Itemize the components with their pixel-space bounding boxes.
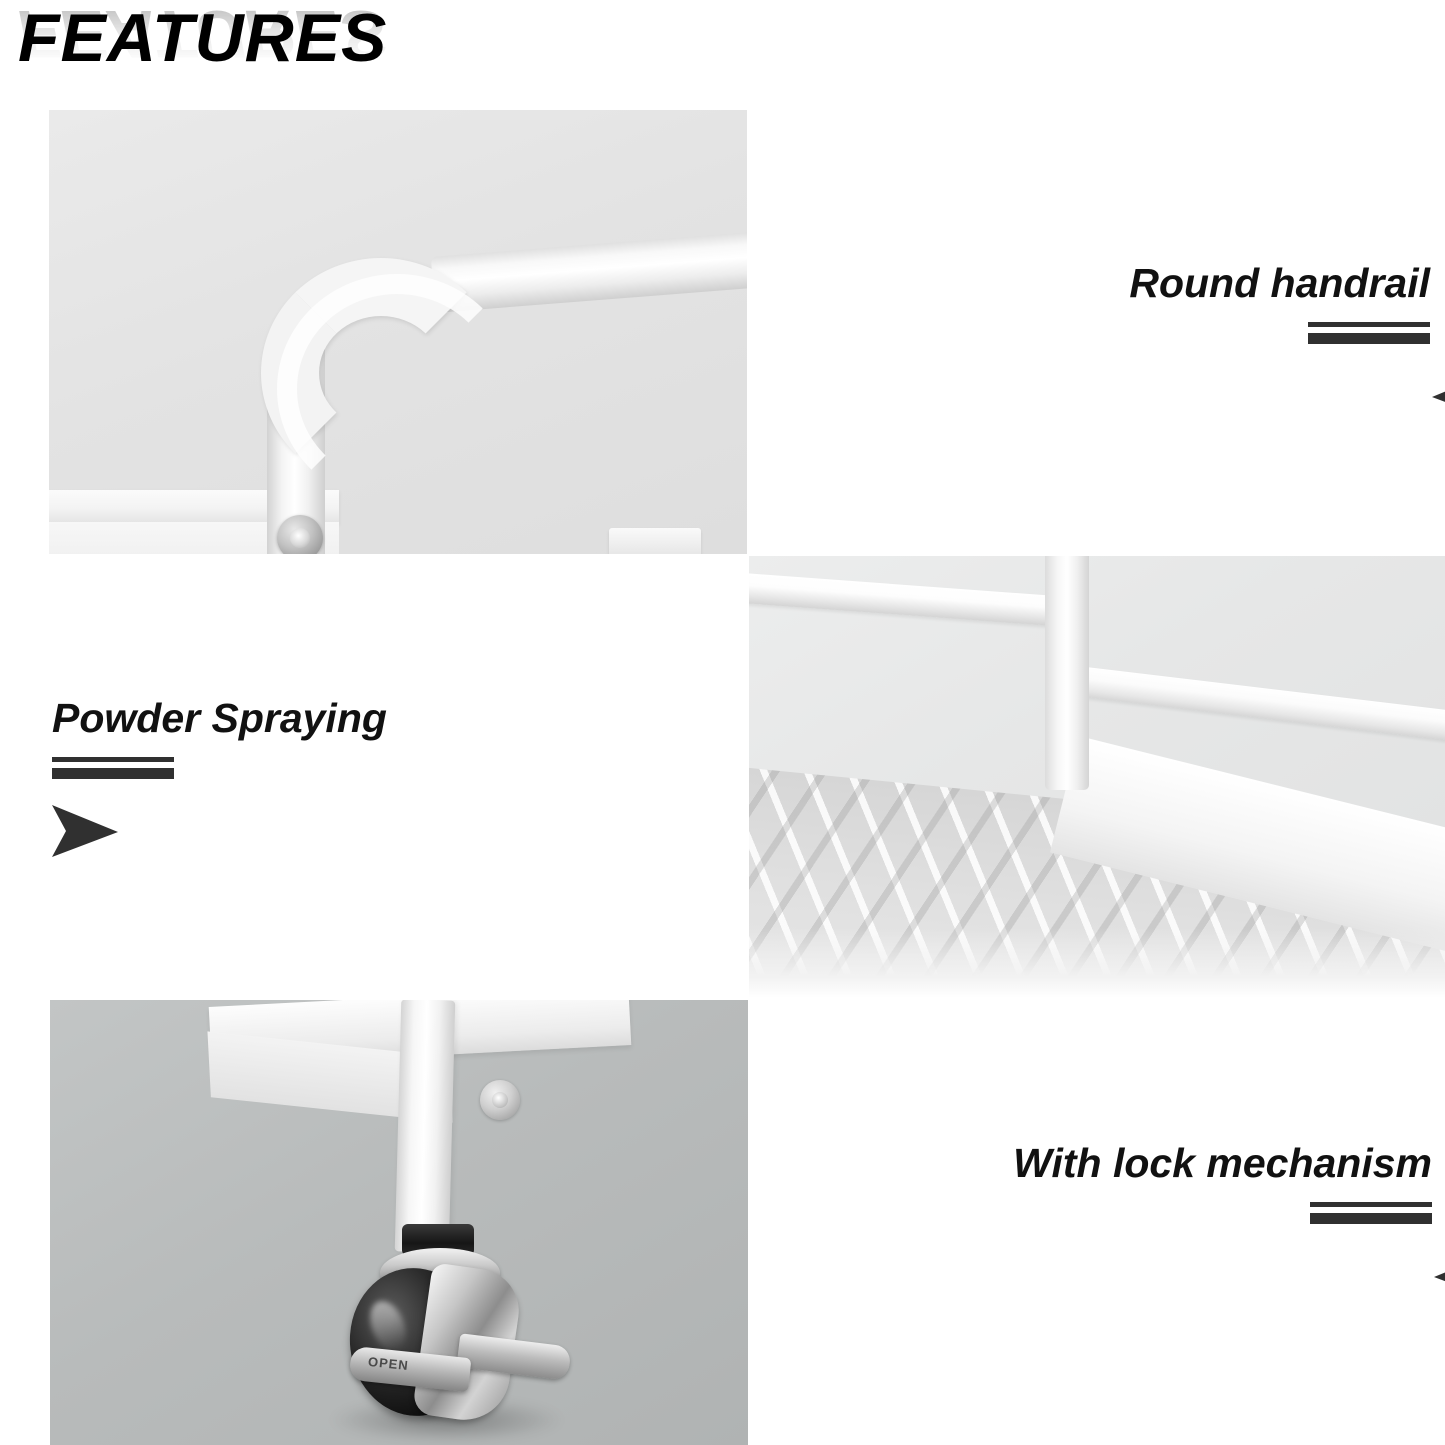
page-title-block: FEATURES FEATURES [18,2,578,117]
leg-screw-icon [480,1080,520,1120]
shelf-bottom-fade [749,928,1445,998]
shelf-rail-right [1075,666,1445,743]
fixing-screw-icon [277,515,323,554]
callout-rule-group [52,757,174,779]
callout-powder-spraying: Powder Spraying [52,693,472,805]
callout-arrow-wrap [928,1224,1432,1250]
callout-rule-thin [52,757,174,762]
callout-rule-thin [1308,322,1430,327]
callout-rule-thick [1308,333,1430,344]
page-title-reflection: FEATURES [18,0,387,70]
cart-leg-tube [395,1000,456,1253]
photo-perforated-shelf [749,556,1445,998]
callout-label-lock-mechanism: With lock mechanism [928,1138,1432,1188]
callout-rule-group [1308,322,1430,344]
callout-arrow-wrap [52,779,472,805]
photo-handrail [49,110,747,554]
callout-arrow-wrap [1045,344,1430,370]
callout-rule-group [1310,1202,1432,1224]
callout-label-powder-spraying: Powder Spraying [52,693,472,743]
handrail-bracket [609,528,701,554]
handrail-bend-highlight [277,274,517,504]
callout-round-handrail: Round handrail [1045,258,1430,370]
shelf-corner-post [1045,556,1089,790]
callout-label-round-handrail: Round handrail [1045,258,1430,308]
photo-caster-wheel: OPEN [50,1000,748,1445]
shelf-rail-left [749,572,1084,628]
handrail-horizontal-tube [431,231,747,313]
callout-lock-mechanism: With lock mechanism [928,1138,1432,1250]
callout-rule-thick [1310,1213,1432,1224]
callout-rule-thick [52,768,174,779]
features-infographic: FEATURES FEATURES OPEN [0,0,1445,1445]
callout-rule-thin [1310,1202,1432,1207]
